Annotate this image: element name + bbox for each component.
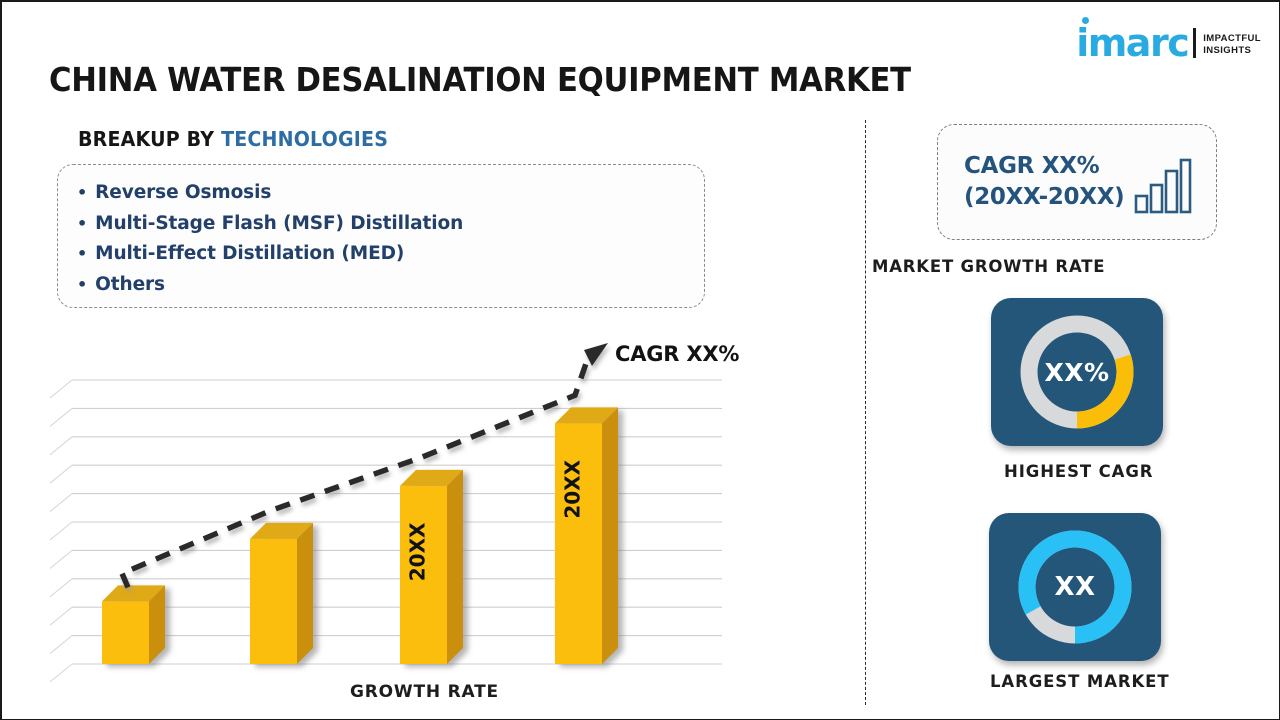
highest-cagr-caption: HIGHEST CAGR: [1004, 462, 1152, 481]
panel-divider: [865, 120, 866, 705]
trendline-label: CAGR XX%: [615, 342, 739, 366]
bar-chart-icon: [1134, 158, 1192, 214]
growth-rate-bar-chart: 20XX20XX: [50, 332, 750, 712]
breakup-list-box: • Reverse Osmosis • Multi-Stage Flash (M…: [57, 164, 705, 308]
largest-market-caption: LARGEST MARKET: [990, 672, 1166, 691]
list-item-label: Reverse Osmosis: [95, 178, 271, 209]
largest-market-value: XX: [1054, 572, 1095, 602]
page-title: CHINA WATER DESALINATION EQUIPMENT MARKE…: [49, 60, 911, 99]
logo-tagline-line1: IMPACTFUL: [1203, 33, 1261, 45]
chart-bars: 20XX20XX: [102, 407, 618, 664]
logo-tagline-line2: INSIGHTS: [1203, 45, 1261, 57]
chart-x-axis-label: GROWTH RATE: [350, 682, 499, 702]
bullet-icon: •: [77, 178, 87, 209]
highest-cagr-tile: XX%: [991, 298, 1163, 446]
list-item: • Multi-Stage Flash (MSF) Distillation: [77, 209, 704, 240]
infographic-page: imarc IMPACTFUL INSIGHTS CHINA WATER DES…: [0, 0, 1280, 720]
subtitle-prefix: BREAKUP BY: [78, 127, 221, 151]
logo-divider: [1193, 28, 1196, 58]
largest-market-tile: XX: [989, 513, 1161, 661]
cagr-card-line1: CAGR XX%: [964, 151, 1124, 182]
logo-word-text: imarc: [1076, 21, 1188, 65]
chart-canvas: 20XX20XX: [50, 332, 750, 712]
list-item-label: Multi-Stage Flash (MSF) Distillation: [95, 209, 463, 240]
logo-tagline: IMPACTFUL INSIGHTS: [1203, 33, 1261, 60]
logo-wordmark: imarc: [1076, 26, 1188, 60]
market-growth-rate-card: CAGR XX% (20XX-20XX): [937, 124, 1217, 240]
cagr-card-line2: (20XX-20XX): [964, 182, 1124, 213]
highest-cagr-value: XX%: [1044, 358, 1109, 387]
list-item: • Reverse Osmosis: [77, 178, 704, 209]
section-subtitle: BREAKUP BY TECHNOLOGIES: [78, 127, 388, 151]
bullet-icon: •: [77, 209, 87, 240]
cagr-card-text: CAGR XX% (20XX-20XX): [964, 151, 1124, 213]
svg-text:20XX: 20XX: [561, 459, 585, 518]
svg-text:20XX: 20XX: [406, 522, 430, 581]
imarc-logo: imarc IMPACTFUL INSIGHTS: [1076, 18, 1261, 60]
market-growth-rate-caption: MARKET GROWTH RATE: [2, 257, 872, 276]
subtitle-highlight: TECHNOLOGIES: [221, 127, 388, 151]
